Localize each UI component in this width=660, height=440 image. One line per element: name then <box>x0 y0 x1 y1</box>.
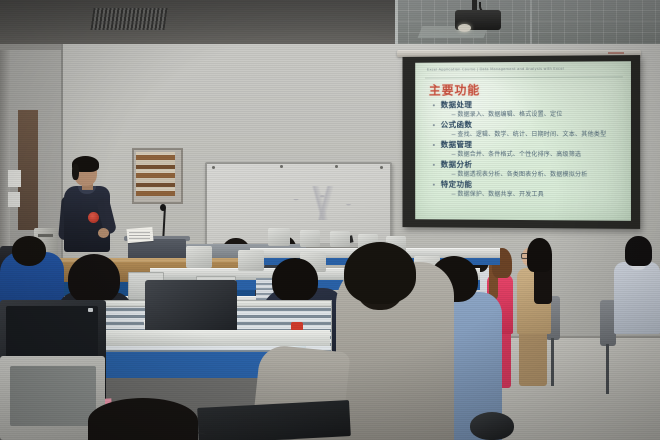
bullet-subtext: 数据保护、数据共享、开发工具 <box>441 190 627 200</box>
chair-leg <box>606 344 609 394</box>
bullet-subtext: 数据录入、数据编辑、格式设置、定位 <box>441 110 627 119</box>
whiteboard-clip <box>335 165 338 168</box>
lab-monitor <box>330 231 350 247</box>
ceiling-beam <box>395 0 398 44</box>
presenter-hand <box>98 228 109 238</box>
left-wall-edge <box>0 44 10 274</box>
keyboard[interactable] <box>197 400 351 440</box>
student-head-foreground <box>344 242 416 304</box>
slide-bullet: 特定功能 数据保护、数据共享、开发工具 <box>431 180 627 200</box>
slide-header-rule <box>425 76 623 78</box>
chair-leg <box>551 338 554 386</box>
lab-monitor <box>186 246 212 268</box>
slide-bullet-list: 数据处理 数据录入、数据编辑、格式设置、定位 公式函数 查找、逻辑、数学、统计、… <box>431 100 627 201</box>
slide-bullet: 数据分析 数据透视表分析、各类图表分析、数据模拟分析 <box>431 160 627 180</box>
projector-lens-icon <box>458 24 471 32</box>
student-head <box>68 254 120 304</box>
ceiling-beam <box>530 0 532 44</box>
bullet-dot-icon <box>433 144 435 146</box>
bullet-subtext: 数据透视表分析、各类图表分析、数据模拟分析 <box>441 170 627 180</box>
slide-bullet: 公式函数 查找、逻辑、数学、统计、日期时间、文本、其他类型 <box>431 120 627 139</box>
student-head-bottom <box>88 398 198 440</box>
attendee-legs <box>519 330 547 386</box>
projection-screen: Excel Application Course | Data Manageme… <box>402 55 640 229</box>
mouse[interactable] <box>470 412 514 440</box>
whiteboard-clip <box>380 166 383 169</box>
tower-drive-slot <box>38 234 53 237</box>
bullet-heading: 数据处理 <box>441 100 627 111</box>
bullet-heading: 数据分析 <box>441 160 627 170</box>
microphone-icon <box>160 204 166 211</box>
presenter-hair-side <box>72 164 79 180</box>
monitor-led-icon <box>88 308 93 312</box>
student-head <box>12 236 46 266</box>
slide-header-text: Excel Application Course | Data Manageme… <box>427 66 623 76</box>
whiteboard-erased-writing <box>275 186 380 220</box>
lab-monitor <box>300 230 320 247</box>
ceiling-vent <box>90 8 167 30</box>
lab-monitor <box>268 228 290 246</box>
bullet-dot-icon <box>433 124 435 126</box>
bullet-subtext: 查找、逻辑、数学、统计、日期时间、文本、其他类型 <box>441 130 627 139</box>
bullet-subtext: 数据合并、条件格式、个性化排序、高级筛选 <box>441 150 627 159</box>
bullet-dot-icon <box>433 164 435 166</box>
attendee-head <box>625 236 652 266</box>
wood-wall-panel <box>18 110 38 230</box>
slide-bullet: 数据管理 数据合并、条件格式、个性化排序、高级筛选 <box>431 140 627 159</box>
slide-bullet: 数据处理 数据录入、数据编辑、格式设置、定位 <box>431 100 627 120</box>
screen-housing-marking <box>608 52 624 54</box>
bullet-heading: 数据管理 <box>441 140 627 150</box>
classroom-photo: Excel Application Course | Data Manageme… <box>0 0 660 440</box>
whiteboard-clip <box>280 165 283 168</box>
lectern-paper-lines <box>129 231 150 239</box>
lab-monitor <box>238 250 264 271</box>
attendee-torso-blue <box>614 262 660 334</box>
presentation-slide: Excel Application Course | Data Manageme… <box>415 61 631 221</box>
monitor-screen <box>10 366 96 426</box>
wall-notice <box>8 192 20 207</box>
foreground-monitor <box>145 280 237 336</box>
wall-trim <box>0 44 62 50</box>
wall-picture-art <box>136 152 175 196</box>
whiteboard-clip <box>212 166 215 169</box>
bullet-dot-icon <box>433 104 435 106</box>
attendee-head <box>527 238 552 272</box>
bullet-heading: 公式函数 <box>441 120 627 130</box>
wall-notice <box>8 170 21 187</box>
slide-title: 主要功能 <box>429 81 480 98</box>
presenter-shirt-logo <box>88 212 99 223</box>
student-head <box>272 258 318 302</box>
bullet-dot-icon <box>433 184 435 186</box>
